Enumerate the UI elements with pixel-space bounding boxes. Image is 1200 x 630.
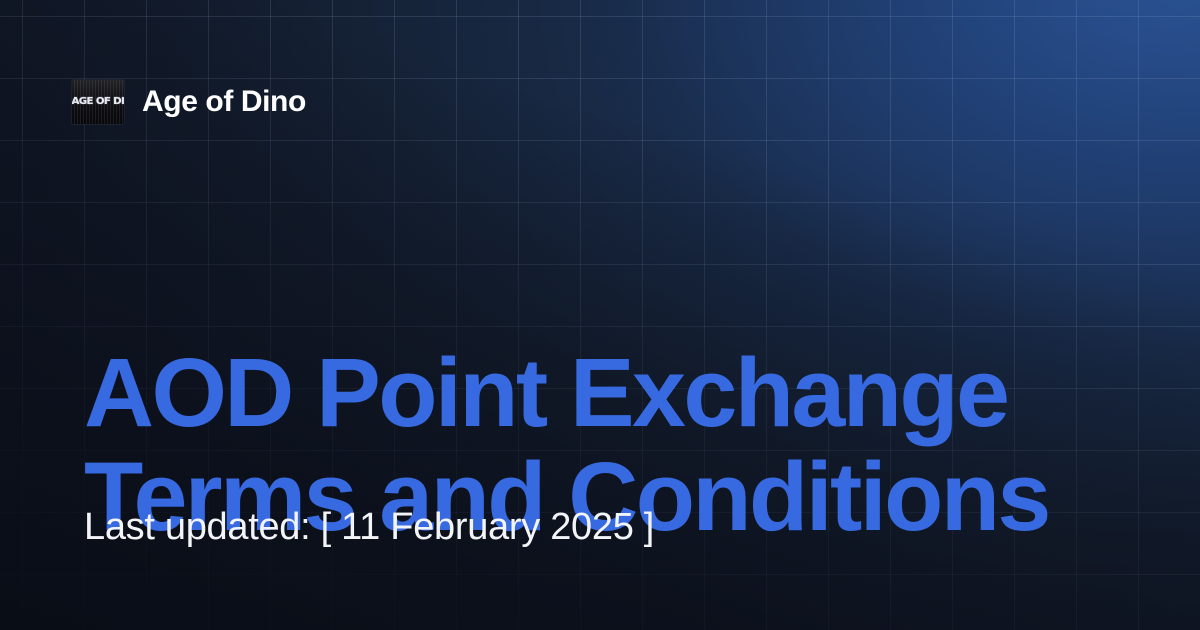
- last-updated-text: Last updated: [ 11 February 2025 ]: [84, 505, 654, 551]
- brand-lockup[interactable]: AGE OF DINO Age of Dino: [72, 80, 306, 124]
- logo-scanline-texture: [72, 80, 124, 124]
- age-of-dino-logo-icon: AGE OF DINO: [72, 80, 124, 124]
- og-banner-card: AGE OF DINO Age of Dino AOD Point Exchan…: [0, 0, 1200, 630]
- card-content: AGE OF DINO Age of Dino AOD Point Exchan…: [0, 0, 1200, 630]
- brand-name-label: Age of Dino: [142, 87, 306, 117]
